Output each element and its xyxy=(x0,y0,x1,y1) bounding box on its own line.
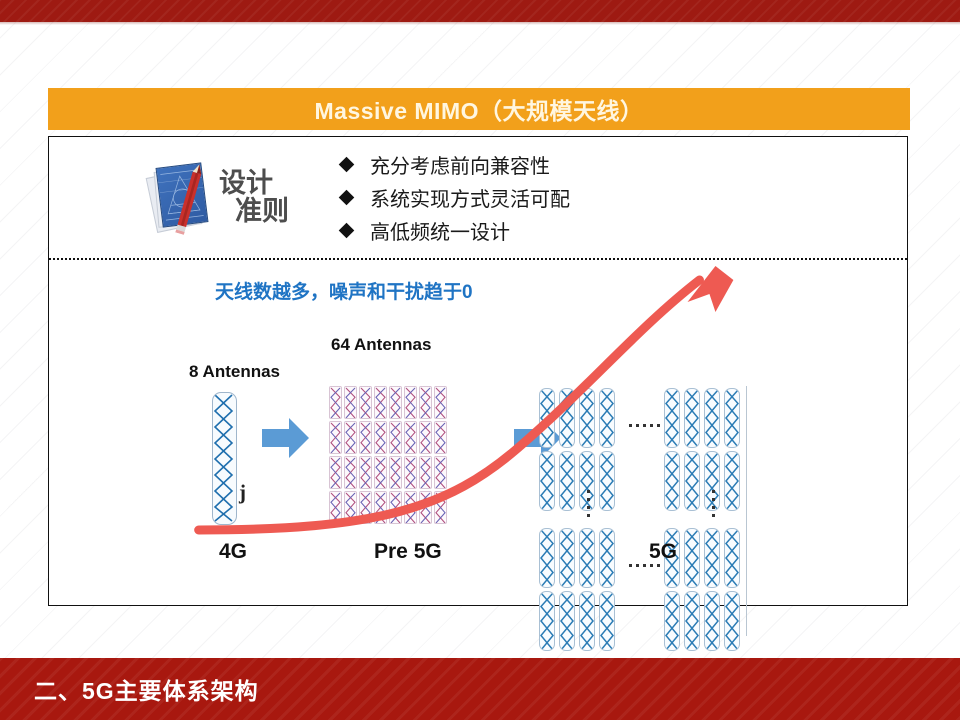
antenna-element xyxy=(329,421,342,454)
top-bar-shadow xyxy=(0,22,960,25)
antenna-element xyxy=(684,591,700,651)
design-criteria-badge: 设计 准则 xyxy=(151,161,289,235)
antenna-element xyxy=(389,421,402,454)
antenna-element xyxy=(539,528,555,588)
antenna-element xyxy=(559,451,575,511)
antenna-element xyxy=(374,456,387,489)
bullet-item: 系统实现方式灵活可配 xyxy=(341,183,570,212)
antenna-element xyxy=(419,491,432,524)
antenna-element xyxy=(389,491,402,524)
label-8-antennas: 8 Antennas xyxy=(189,362,280,382)
antenna-element xyxy=(684,528,700,588)
antenna-element xyxy=(344,456,357,489)
cluster-edge-line-top xyxy=(746,386,747,538)
antenna-element xyxy=(704,388,720,448)
principle-bullet-list: 充分考虑前向兼容性 系统实现方式灵活可配 高低频统一设计 xyxy=(341,150,570,245)
design-label-line1: 设计 xyxy=(219,170,289,198)
diamond-bullet-icon xyxy=(339,157,355,173)
antenna-element xyxy=(724,528,740,588)
bullet-item: 高低频统一设计 xyxy=(341,216,570,245)
antenna-element xyxy=(684,388,700,448)
antenna-element xyxy=(329,386,342,419)
antenna-element xyxy=(559,388,575,448)
antenna-element xyxy=(344,386,357,419)
antenna-element xyxy=(724,591,740,651)
antenna-element xyxy=(389,386,402,419)
footer-section-bar: 二、5G主要体系架构 xyxy=(0,658,960,720)
antenna-element xyxy=(539,591,555,651)
blueprint-pencil-icon xyxy=(151,161,213,235)
evolution-headline: 天线数越多，噪声和干扰趋于0 xyxy=(215,277,473,304)
antenna-element xyxy=(389,456,402,489)
antenna-array-64 xyxy=(329,386,447,524)
content-frame: 设计 准则 充分考虑前向兼容性 系统实现方式灵活可配 高低频统一设计 天线数越多… xyxy=(48,136,908,606)
slide-title: Massive MIMO（大规模天线） xyxy=(315,92,644,126)
antenna-element xyxy=(419,456,432,489)
tier-label-4g: 4G xyxy=(219,540,247,564)
top-red-bar xyxy=(0,0,960,22)
antenna-element xyxy=(579,528,595,588)
growth-curve-arrow xyxy=(49,258,907,605)
bullet-item: 充分考虑前向兼容性 xyxy=(341,150,570,179)
antenna-element xyxy=(404,421,417,454)
antenna-element xyxy=(359,421,372,454)
diamond-bullet-icon xyxy=(339,190,355,206)
antenna-element xyxy=(599,451,615,511)
antenna-element xyxy=(579,591,595,651)
tier-label-5g: 5G xyxy=(649,540,677,564)
antenna-element xyxy=(374,491,387,524)
bullet-text: 充分考虑前向兼容性 xyxy=(370,150,550,179)
diamond-bullet-icon xyxy=(339,223,355,239)
antenna-element xyxy=(559,528,575,588)
bullet-text: 系统实现方式灵活可配 xyxy=(370,183,570,212)
antenna-element xyxy=(359,456,372,489)
antenna-element xyxy=(344,421,357,454)
antenna-element xyxy=(434,386,447,419)
antenna-element xyxy=(724,451,740,511)
design-criteria-label: 设计 准则 xyxy=(219,170,289,225)
antenna-element xyxy=(359,491,372,524)
antenna-element xyxy=(704,528,720,588)
blue-arrow-right-1 xyxy=(262,416,310,460)
antenna-element xyxy=(359,386,372,419)
footer-section-title: 二、5G主要体系架构 xyxy=(34,672,259,706)
antenna-element xyxy=(374,421,387,454)
antenna-element xyxy=(329,491,342,524)
bullet-text: 高低频统一设计 xyxy=(370,216,510,245)
antenna-element xyxy=(434,456,447,489)
antenna-cluster-top-right xyxy=(664,388,740,511)
artifact-glyph: j xyxy=(239,480,246,505)
design-label-line2: 准则 xyxy=(235,198,289,226)
ellipsis-vertical-right xyxy=(712,490,715,517)
antenna-cluster-bottom-left xyxy=(539,528,615,651)
antenna-element xyxy=(664,388,680,448)
antenna-element xyxy=(579,388,595,448)
antenna-element xyxy=(559,591,575,651)
antenna-element-8 xyxy=(212,392,237,525)
antenna-element xyxy=(329,456,342,489)
antenna-element xyxy=(434,421,447,454)
ellipsis-vertical-left xyxy=(587,490,590,517)
antenna-element xyxy=(704,591,720,651)
design-principles-section: 设计 准则 充分考虑前向兼容性 系统实现方式灵活可配 高低频统一设计 xyxy=(49,137,907,258)
antenna-element xyxy=(404,456,417,489)
antenna-element xyxy=(684,451,700,511)
cluster-edge-line-bottom xyxy=(746,526,747,636)
antenna-element xyxy=(599,528,615,588)
antenna-element xyxy=(539,388,555,448)
slide-title-banner: Massive MIMO（大规模天线） xyxy=(48,88,910,130)
antenna-element xyxy=(344,491,357,524)
antenna-element xyxy=(664,591,680,651)
antenna-evolution-diagram: 天线数越多，噪声和干扰趋于0 8 Antennas 64 Antennas j xyxy=(49,258,907,605)
antenna-cluster-top-left xyxy=(539,388,615,511)
antenna-element xyxy=(419,386,432,419)
tier-label-pre5g: Pre 5G xyxy=(374,540,442,564)
antenna-element xyxy=(404,386,417,419)
antenna-element xyxy=(599,591,615,651)
antenna-element xyxy=(599,388,615,448)
antenna-element xyxy=(664,451,680,511)
antenna-element xyxy=(404,491,417,524)
ellipsis-horizontal-top xyxy=(629,424,660,427)
antenna-element xyxy=(724,388,740,448)
ellipsis-horizontal-bottom xyxy=(629,564,660,567)
label-64-antennas: 64 Antennas xyxy=(331,335,431,355)
antenna-element xyxy=(434,491,447,524)
antenna-element xyxy=(374,386,387,419)
antenna-element xyxy=(419,421,432,454)
antenna-element xyxy=(539,451,555,511)
